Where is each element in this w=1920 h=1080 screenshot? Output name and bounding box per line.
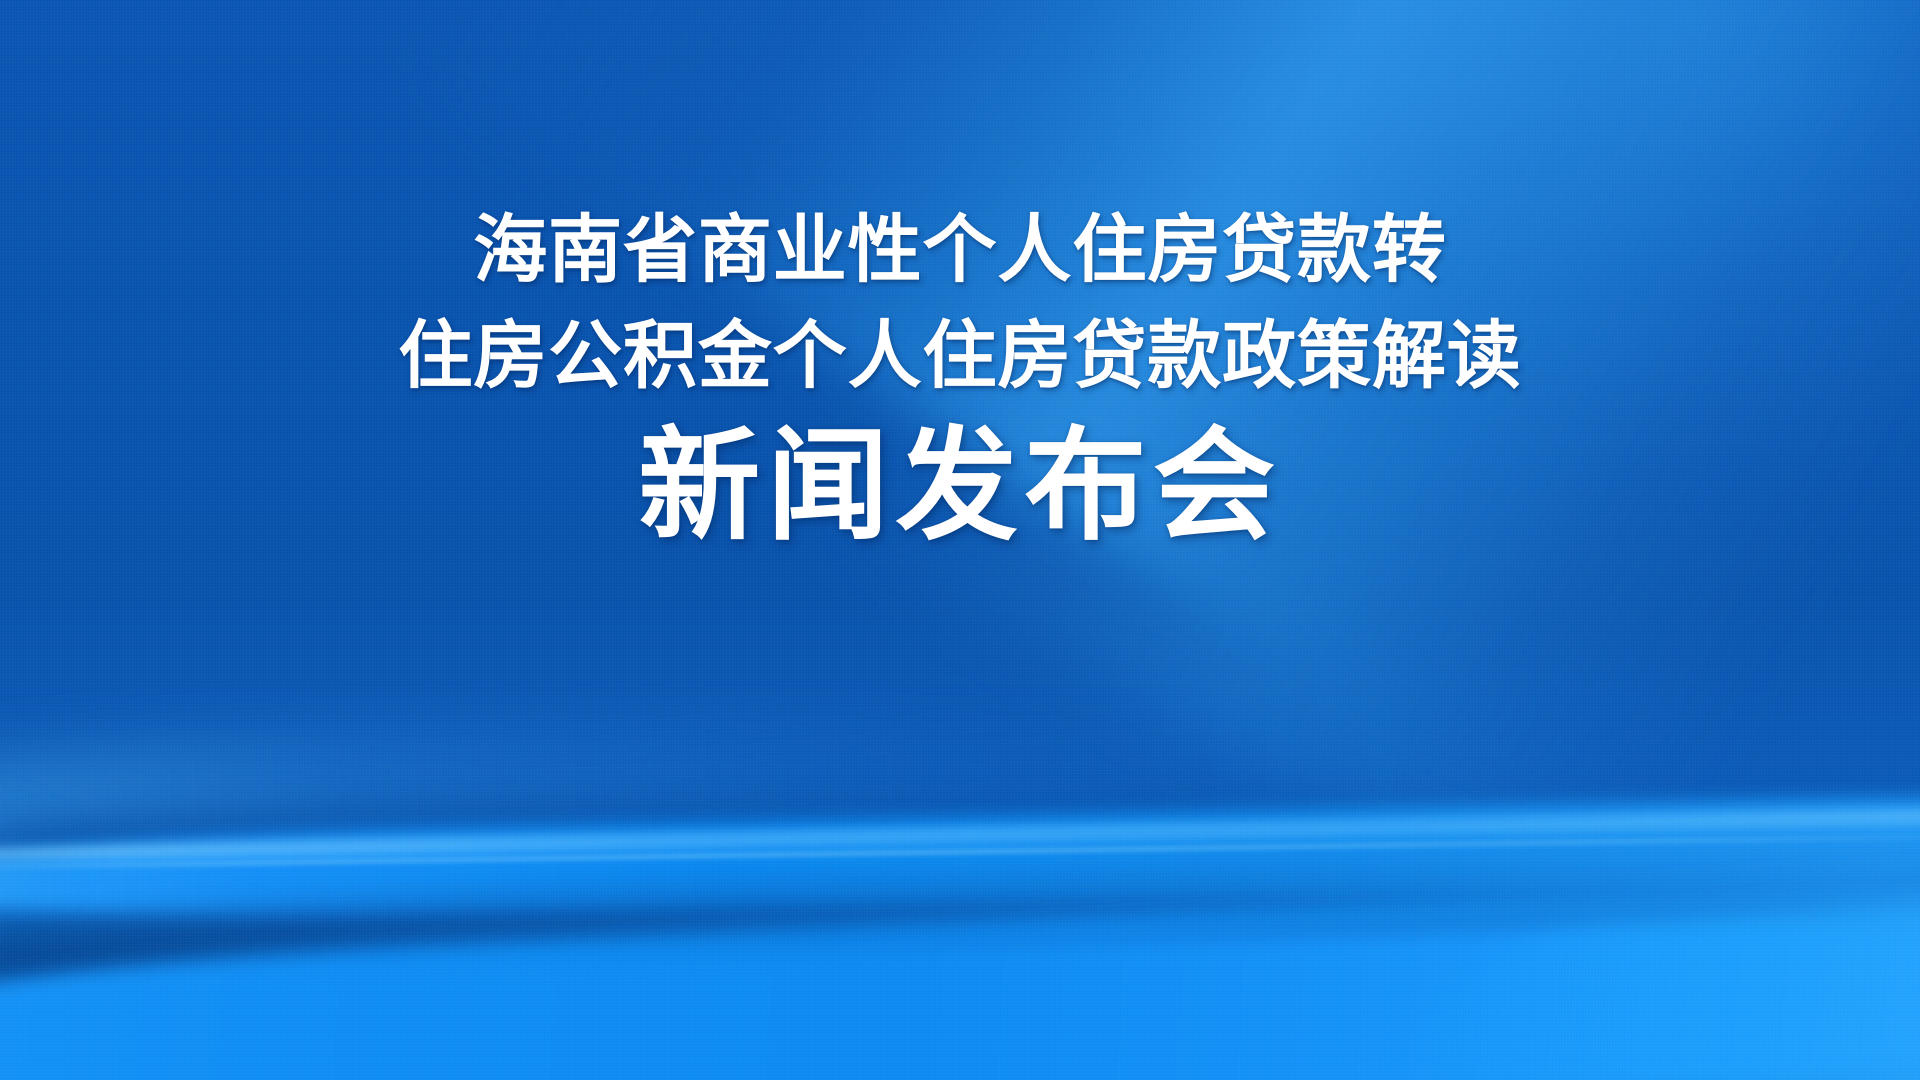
headline-main-event: 新闻发布会 bbox=[60, 412, 1860, 564]
title-block: 海南省商业性个人住房贷款转 住房公积金个人住房贷款政策解读 新闻发布会 bbox=[0, 198, 1920, 564]
headline-line-1: 海南省商业性个人住房贷款转 bbox=[60, 198, 1860, 304]
wave-band bbox=[0, 664, 1920, 1080]
poster-canvas: 海南省商业性个人住房贷款转 住房公积金个人住房贷款政策解读 新闻发布会 bbox=[0, 0, 1920, 1080]
wave-left-highlight bbox=[0, 760, 306, 960]
headline-line-2: 住房公积金个人住房贷款政策解读 bbox=[60, 304, 1860, 410]
